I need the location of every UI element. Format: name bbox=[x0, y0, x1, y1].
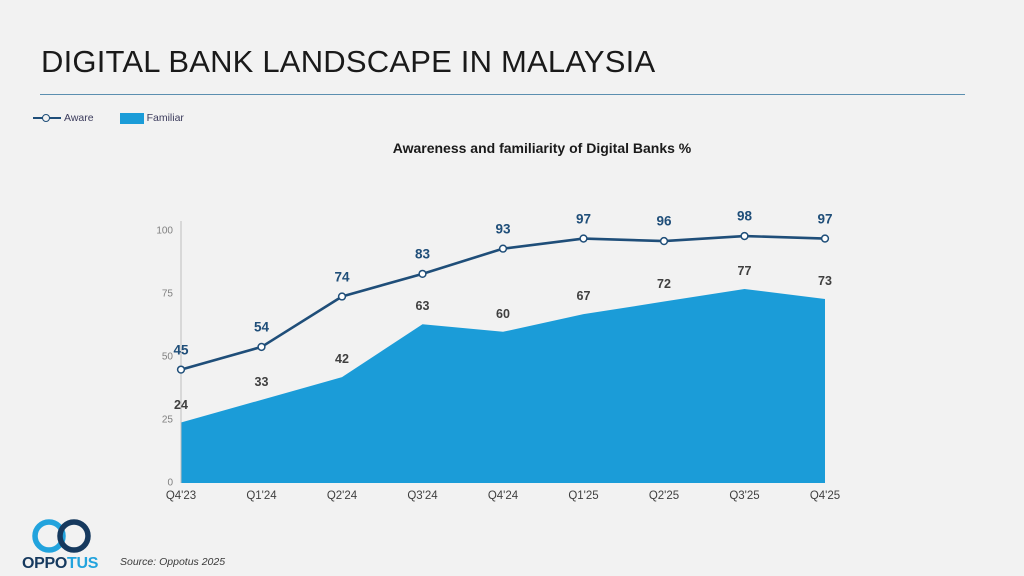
aware-data-label: 98 bbox=[737, 209, 752, 224]
familiar-area bbox=[181, 289, 825, 483]
aware-point-marker bbox=[500, 245, 507, 252]
x-axis-tick-label: Q4'23 bbox=[136, 490, 226, 502]
familiar-data-label: 24 bbox=[174, 398, 188, 412]
familiar-data-label: 33 bbox=[255, 375, 269, 389]
logo-wordmark: OPPOTUS bbox=[22, 555, 98, 573]
aware-point-marker bbox=[419, 270, 426, 277]
chart-title: Awareness and familiarity of Digital Ban… bbox=[0, 140, 1024, 156]
line-marker-icon bbox=[33, 113, 61, 123]
aware-data-label: 97 bbox=[817, 211, 832, 226]
y-axis-tick-label: 0 bbox=[133, 478, 173, 489]
aware-data-label: 96 bbox=[656, 214, 671, 229]
y-axis-tick-label: 25 bbox=[133, 415, 173, 426]
aware-point-marker bbox=[178, 366, 185, 373]
aware-point-marker bbox=[339, 293, 346, 300]
y-axis-tick-label: 75 bbox=[133, 289, 173, 300]
x-axis-tick-label: Q2'24 bbox=[297, 490, 387, 502]
familiar-data-label: 42 bbox=[335, 352, 349, 366]
familiar-data-label: 73 bbox=[818, 274, 832, 288]
logo-text-oppo: OPPO bbox=[22, 555, 67, 572]
legend-label-aware: Aware bbox=[64, 112, 94, 124]
slide: DIGITAL BANK LANDSCAPE IN MALAYSIA Aware… bbox=[0, 0, 1024, 576]
chart-legend: Aware Familiar bbox=[33, 112, 184, 124]
familiar-data-label: 72 bbox=[657, 277, 671, 291]
legend-item-aware[interactable]: Aware bbox=[33, 112, 94, 124]
aware-point-marker bbox=[258, 344, 265, 351]
familiar-data-label: 67 bbox=[577, 289, 591, 303]
legend-item-familiar[interactable]: Familiar bbox=[120, 112, 184, 124]
aware-line bbox=[181, 236, 825, 370]
aware-point-marker bbox=[822, 235, 829, 242]
aware-data-label: 93 bbox=[495, 221, 510, 236]
x-axis-tick-label: Q2'25 bbox=[619, 490, 709, 502]
aware-point-marker bbox=[741, 233, 748, 240]
x-axis-tick-label: Q1'25 bbox=[539, 490, 629, 502]
swatch-icon bbox=[120, 113, 144, 124]
infinity-rings-icon bbox=[30, 519, 100, 555]
x-axis-tick-label: Q3'24 bbox=[378, 490, 468, 502]
aware-point-marker bbox=[661, 238, 668, 245]
aware-data-label: 83 bbox=[415, 246, 430, 261]
y-axis-tick-label: 50 bbox=[133, 352, 173, 363]
aware-data-label: 97 bbox=[576, 211, 591, 226]
source-note: Source: Oppotus 2025 bbox=[120, 556, 225, 568]
chart-plot-area: 0255075100Q4'23Q1'24Q2'24Q3'24Q4'24Q1'25… bbox=[0, 0, 1024, 576]
page-title: DIGITAL BANK LANDSCAPE IN MALAYSIA bbox=[41, 44, 655, 80]
x-axis-tick-label: Q3'25 bbox=[700, 490, 790, 502]
y-axis-tick-label: 100 bbox=[133, 226, 173, 237]
familiar-data-label: 60 bbox=[496, 307, 510, 321]
x-axis-tick-label: Q1'24 bbox=[217, 490, 307, 502]
legend-label-familiar: Familiar bbox=[147, 112, 184, 124]
logo-text-tus: TUS bbox=[67, 555, 98, 572]
familiar-data-label: 63 bbox=[416, 299, 430, 313]
chart-svg bbox=[0, 0, 1024, 576]
aware-data-label: 54 bbox=[254, 319, 269, 334]
aware-point-marker bbox=[580, 235, 587, 242]
aware-data-label: 45 bbox=[173, 342, 188, 357]
x-axis-tick-label: Q4'25 bbox=[780, 490, 870, 502]
x-axis-tick-label: Q4'24 bbox=[458, 490, 548, 502]
oppotus-logo: OPPOTUS bbox=[22, 519, 118, 571]
chart-title-text: Awareness and familiarity of Digital Ban… bbox=[333, 140, 692, 156]
aware-data-label: 74 bbox=[334, 269, 349, 284]
title-divider bbox=[40, 94, 965, 95]
familiar-data-label: 77 bbox=[738, 264, 752, 278]
